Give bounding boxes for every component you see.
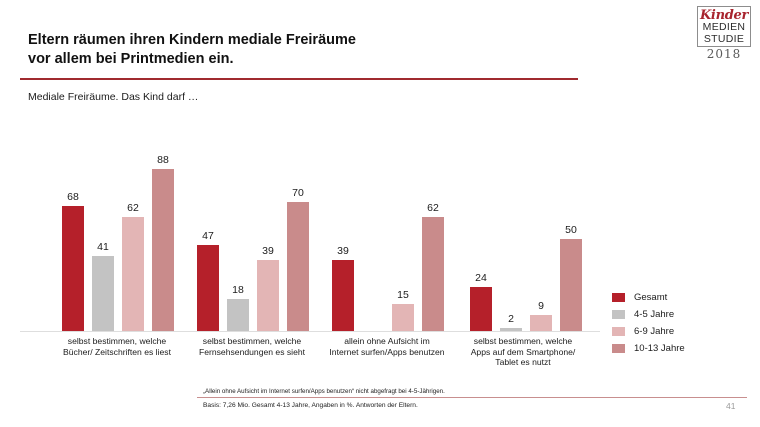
logo-line-medien: MEDIEN [698, 22, 750, 34]
legend-label: 6-9 Jahre [634, 326, 674, 337]
chart-plot-area: 6841628847183970391562242950 [20, 130, 600, 332]
title-divider [20, 78, 578, 80]
bar-10-13-jahre [422, 217, 444, 332]
legend-swatch-icon [612, 293, 625, 302]
bar-chart: 6841628847183970391562242950 selbst best… [20, 130, 600, 380]
footnote-divider [197, 397, 747, 398]
bar-value-label: 88 [143, 154, 183, 166]
legend-item-gesamt[interactable]: Gesamt [612, 289, 742, 306]
footnote-exclusion: „Allein ohne Aufsicht im Internet surfen… [203, 388, 445, 395]
chart-baseline [20, 331, 600, 332]
logo-box: Kinder MEDIEN STUDIE [697, 6, 751, 47]
bar-value-label: 39 [248, 245, 288, 257]
legend-item-4-5-jahre[interactable]: 4-5 Jahre [612, 306, 742, 323]
category-label-line: Internet surfen/Apps benutzen [312, 347, 462, 358]
category-label-line: Bücher/ Zeitschriften es liest [42, 347, 192, 358]
category-label-line: selbst bestimmen, welche [448, 336, 598, 347]
bar-gesamt [470, 287, 492, 332]
bar-value-label: 9 [521, 300, 561, 312]
category-label: selbst bestimmen, welcheFernsehsendungen… [177, 336, 327, 357]
bar-10-13-jahre [287, 202, 309, 332]
category-label-line: Tablet es nutzt [448, 357, 598, 368]
legend-swatch-icon [612, 344, 625, 353]
category-label: allein ohne Aufsicht imInternet surfen/A… [312, 336, 462, 357]
bar-gesamt [332, 260, 354, 332]
bar-value-label: 15 [383, 289, 423, 301]
category-label-line: Apps auf dem Smartphone/ [448, 347, 598, 358]
logo-line-studie: STUDIE [698, 34, 750, 46]
logo-year: 2018 [694, 48, 754, 61]
legend-swatch-icon [612, 327, 625, 336]
category-label: selbst bestimmen, welcheApps auf dem Sma… [448, 336, 598, 368]
bar-gesamt [197, 245, 219, 332]
bar-value-label: 2 [491, 313, 531, 325]
kinder-medien-studie-logo: Kinder MEDIEN STUDIE 2018 [694, 6, 754, 68]
footnote-basis: Basis: 7,26 Mio. Gesamt 4-13 Jahre, Anga… [203, 402, 418, 409]
page-title-line-2: vor allem bei Printmedien ein. [28, 50, 568, 69]
bar-value-label: 24 [461, 272, 501, 284]
bar-value-label: 41 [83, 241, 123, 253]
category-label-line: Fernsehsendungen es sieht [177, 347, 327, 358]
bar-value-label: 68 [53, 191, 93, 203]
bar-4-5-jahre [227, 299, 249, 332]
page-number: 41 [726, 401, 735, 411]
bar-value-label: 50 [551, 224, 591, 236]
bar-value-label: 70 [278, 187, 318, 199]
category-label-line: selbst bestimmen, welche [177, 336, 327, 347]
bar-6-9-jahre [392, 304, 414, 332]
page-title: Eltern räumen ihren Kindern mediale Frei… [28, 31, 568, 69]
bar-6-9-jahre [122, 217, 144, 332]
bar-value-label: 62 [413, 202, 453, 214]
bar-value-label: 47 [188, 230, 228, 242]
legend-label: 4-5 Jahre [634, 309, 674, 320]
category-label: selbst bestimmen, welcheBücher/ Zeitschr… [42, 336, 192, 357]
slide: Kinder MEDIEN STUDIE 2018 Eltern räumen … [0, 0, 760, 427]
bar-6-9-jahre [257, 260, 279, 332]
bar-4-5-jahre [92, 256, 114, 332]
legend-label: 10-13 Jahre [634, 343, 685, 354]
category-label-line: allein ohne Aufsicht im [312, 336, 462, 347]
chart-legend: Gesamt4-5 Jahre6-9 Jahre10-13 Jahre [612, 289, 742, 357]
bar-10-13-jahre [152, 169, 174, 332]
bar-gesamt [62, 206, 84, 332]
legend-item-6-9-jahre[interactable]: 6-9 Jahre [612, 323, 742, 340]
bar-value-label: 39 [323, 245, 363, 257]
chart-subtitle: Mediale Freiräume. Das Kind darf … [28, 91, 198, 103]
bar-value-label: 18 [218, 284, 258, 296]
page-title-line-1: Eltern räumen ihren Kindern mediale Frei… [28, 31, 568, 50]
bar-6-9-jahre [530, 315, 552, 332]
bar-value-label: 62 [113, 202, 153, 214]
legend-item-10-13-jahre[interactable]: 10-13 Jahre [612, 340, 742, 357]
bar-10-13-jahre [560, 239, 582, 332]
legend-label: Gesamt [634, 292, 667, 303]
legend-swatch-icon [612, 310, 625, 319]
category-label-line: selbst bestimmen, welche [42, 336, 192, 347]
